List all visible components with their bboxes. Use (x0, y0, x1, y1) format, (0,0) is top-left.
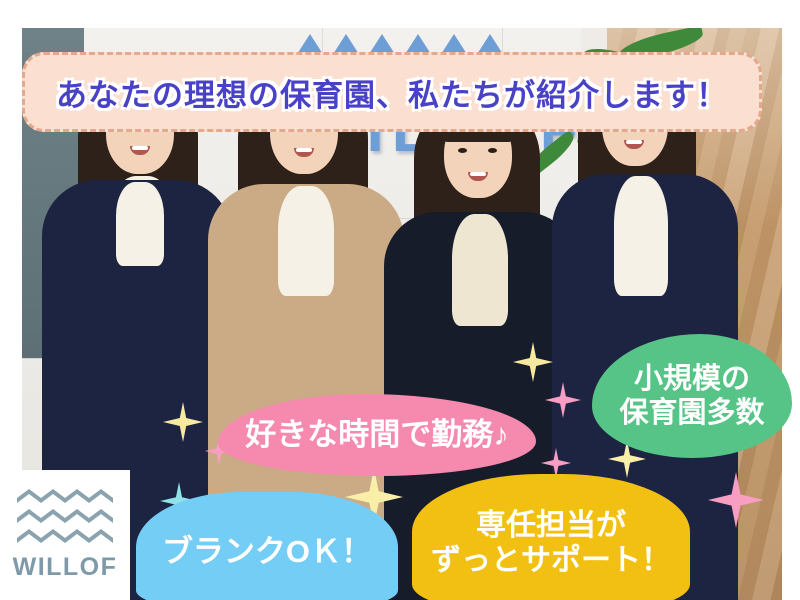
headline-banner: あなたの理想の保育園、私たちが紹介します！ (22, 52, 762, 132)
bubble-pink-line-1: 好きな時間で勤務♪ (245, 417, 509, 454)
zigzag-icon (17, 508, 113, 524)
bubble-green-line-1: 小規模の (619, 362, 764, 396)
bubble-blue-line-1: ブランクОＫ！ (162, 534, 372, 571)
bubble-yellow-line-2: ずっとサポート！ (431, 543, 671, 578)
poster-root: WILLOF (0, 0, 800, 600)
willof-logo: WILLOF (0, 470, 130, 600)
bubble-dedicated-support: 専任担当が ずっとサポート！ (412, 474, 690, 600)
headline-text: あなたの理想の保育園、私たちが紹介します！ (56, 70, 728, 115)
zigzag-icon (17, 528, 113, 544)
bubble-blank-ok: ブランクОＫ！ (136, 492, 398, 600)
bubble-green-line-2: 保育園多数 (619, 396, 764, 430)
bubble-yellow-line-1: 専任担当が (431, 508, 671, 543)
willof-logo-text: WILLOF (13, 553, 118, 582)
zigzag-icon (17, 488, 113, 504)
